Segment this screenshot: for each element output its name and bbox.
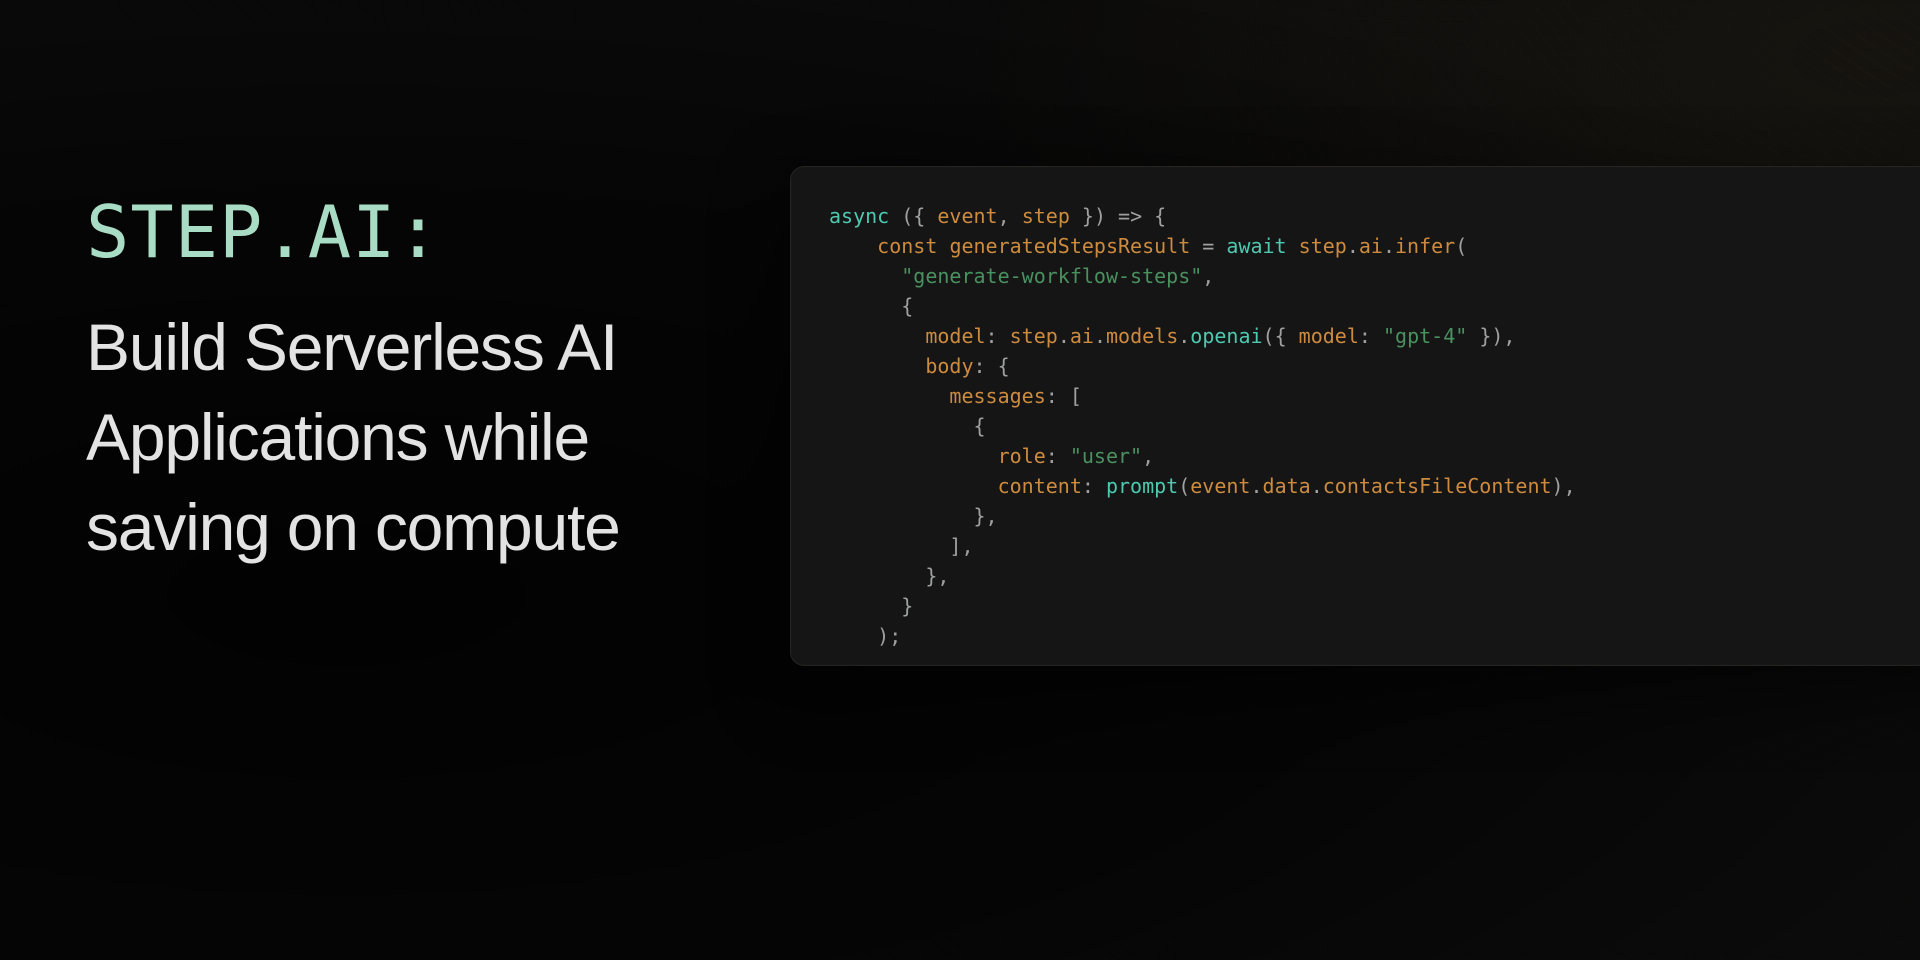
code-token: . <box>1311 474 1323 498</box>
code-line: }, <box>829 501 1920 531</box>
code-token: role <box>998 444 1046 468</box>
code-token <box>829 354 925 378</box>
code-line: ], <box>829 531 1920 561</box>
code-token: models <box>1106 324 1178 348</box>
code-line: body: { <box>829 351 1920 381</box>
code-line: model: step.ai.models.openai({ model: "g… <box>829 321 1920 351</box>
code-token: ai <box>1359 234 1383 258</box>
code-token: . <box>1094 324 1106 348</box>
code-token: ({ <box>901 204 937 228</box>
page-title: Build Serverless AI Applications while s… <box>86 302 746 572</box>
code-token: await <box>1226 234 1286 258</box>
code-token <box>1287 234 1299 258</box>
code-token <box>829 384 949 408</box>
code-token: ( <box>1455 234 1467 258</box>
code-token: { <box>829 294 913 318</box>
code-line: ); <box>829 621 1920 651</box>
hero-text-block: STEP.AI: Build Serverless AI Application… <box>86 196 786 572</box>
code-token <box>829 264 901 288</box>
code-token <box>829 474 998 498</box>
code-token: . <box>1178 324 1190 348</box>
code-token: . <box>1383 234 1395 258</box>
code-token: : <box>1082 474 1106 498</box>
code-token: ai <box>1070 324 1094 348</box>
code-token: data <box>1263 474 1311 498</box>
code-token: . <box>1347 234 1359 258</box>
code-line: { <box>829 411 1920 441</box>
code-token: . <box>1250 474 1262 498</box>
code-token: : [ <box>1046 384 1082 408</box>
code-token: ); <box>829 624 901 648</box>
code-token: , <box>1142 444 1154 468</box>
code-token: body <box>925 354 973 378</box>
code-block: async ({ event, step }) => { const gener… <box>829 201 1920 651</box>
code-token: step <box>1299 234 1347 258</box>
code-token: prompt <box>1106 474 1178 498</box>
code-token: = <box>1190 234 1226 258</box>
code-token: , <box>1202 264 1214 288</box>
code-token: , <box>998 204 1022 228</box>
code-token: ), <box>1552 474 1576 498</box>
code-token: ], <box>829 534 974 558</box>
code-token: async <box>829 204 889 228</box>
code-token: } <box>829 594 913 618</box>
code-token: : { <box>974 354 1010 378</box>
code-token: "user" <box>1070 444 1142 468</box>
code-line: const generatedStepsResult = await step.… <box>829 231 1920 261</box>
code-token: }) => { <box>1070 204 1166 228</box>
code-token: }, <box>829 564 949 588</box>
code-token <box>889 204 901 228</box>
code-token: }, <box>829 504 998 528</box>
code-token: step <box>1022 204 1070 228</box>
code-token: messages <box>949 384 1045 408</box>
code-token: "generate-workflow-steps" <box>901 264 1202 288</box>
code-token: }), <box>1467 324 1515 348</box>
code-token: ({ <box>1263 324 1299 348</box>
code-token <box>937 234 949 258</box>
code-token: : <box>1046 444 1070 468</box>
code-token: contactsFileContent <box>1323 474 1552 498</box>
code-line: { <box>829 291 1920 321</box>
code-line: role: "user", <box>829 441 1920 471</box>
code-token <box>829 444 998 468</box>
code-token: event <box>937 204 997 228</box>
code-token: content <box>998 474 1082 498</box>
code-token: . <box>1058 324 1070 348</box>
eyebrow-label: STEP.AI: <box>86 196 786 268</box>
code-token: ( <box>1178 474 1190 498</box>
code-token: model <box>1299 324 1359 348</box>
code-line: content: prompt(event.data.contactsFileC… <box>829 471 1920 501</box>
code-token: model <box>925 324 985 348</box>
code-token: step <box>1010 324 1058 348</box>
code-line: messages: [ <box>829 381 1920 411</box>
code-token: : <box>1359 324 1383 348</box>
slide-stage: STEP.AI: Build Serverless AI Application… <box>0 0 1920 960</box>
code-token: infer <box>1395 234 1455 258</box>
code-line: }, <box>829 561 1920 591</box>
code-line: } <box>829 591 1920 621</box>
code-panel: async ({ event, step }) => { const gener… <box>790 166 1920 666</box>
code-token <box>829 234 877 258</box>
code-line: async ({ event, step }) => { <box>829 201 1920 231</box>
code-token: : <box>986 324 1010 348</box>
code-line: "generate-workflow-steps", <box>829 261 1920 291</box>
code-token: event <box>1190 474 1250 498</box>
code-token: "gpt-4" <box>1383 324 1467 348</box>
code-token: const <box>877 234 937 258</box>
code-token: generatedStepsResult <box>949 234 1190 258</box>
code-token <box>829 324 925 348</box>
code-token: openai <box>1190 324 1262 348</box>
code-token: { <box>829 414 986 438</box>
